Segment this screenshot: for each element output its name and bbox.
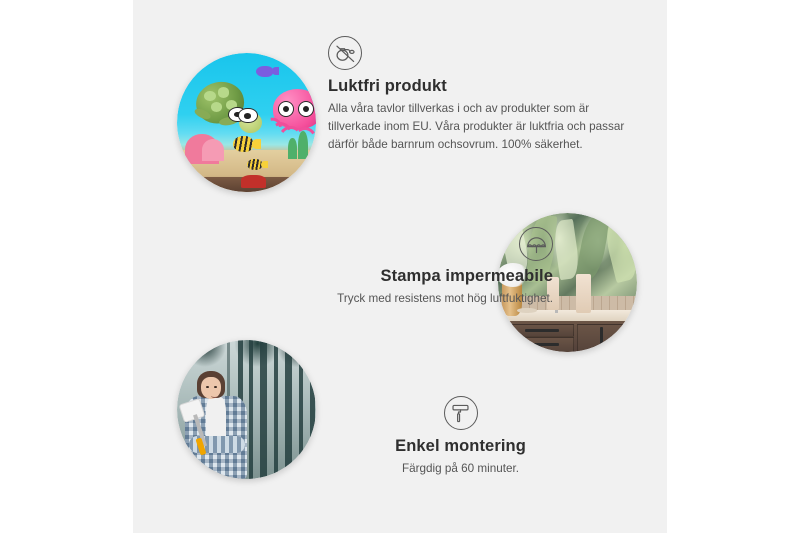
feature-assembly: Enkel montering Färgdig på 60 minuter. <box>318 396 603 478</box>
feature-body: Alla våra tavlor tillverkas i och av pro… <box>328 100 628 154</box>
purple-fish <box>256 66 273 77</box>
fish-tail <box>261 161 268 168</box>
rolled-towel <box>576 274 591 313</box>
octopus-eye-right <box>298 101 314 117</box>
octopus-eye-left <box>278 101 294 117</box>
soap-dish <box>517 308 536 314</box>
turtle-shell-spot <box>218 87 229 97</box>
feature-waterproof: Stampa impermeabile Tryck med resistens … <box>218 227 553 308</box>
yellow-striped-fish-small <box>247 159 262 170</box>
photo-inner <box>177 340 316 479</box>
drawer-handle <box>525 343 559 346</box>
umbrella-icon <box>519 227 553 261</box>
product-feature-panel: Luktfri produkt Alla våra tavlor tillver… <box>133 0 667 533</box>
feature-body: Tryck med resistens mot hög luftfuktighe… <box>218 290 553 308</box>
wallpaper-leaf <box>576 213 611 282</box>
eye-left <box>206 386 209 388</box>
turtle-eye-right <box>238 108 257 124</box>
cabinet-door <box>577 324 634 352</box>
wallpaper-leaf <box>602 216 637 283</box>
feature-body: Färgdig på 60 minuter. <box>318 460 603 478</box>
smile <box>211 393 218 397</box>
drawer-handle <box>525 329 559 332</box>
vanity-cabinet <box>506 321 637 352</box>
feature-odourless: Luktfri produkt Alla våra tavlor tillver… <box>328 36 628 153</box>
woman-illustration <box>183 371 261 479</box>
no-fragrance-spray-bottle-icon <box>328 36 362 70</box>
sea-turtle-illustration <box>192 82 259 135</box>
screenshot-root: Luktfri produkt Alla våra tavlor tillver… <box>0 0 800 533</box>
yellow-striped-fish <box>233 136 254 151</box>
tree-trunk <box>260 340 266 479</box>
photo-inner <box>177 53 316 192</box>
underwater-kids-scene-photo <box>177 53 316 192</box>
pink-coral <box>202 139 224 161</box>
door-handle <box>600 327 603 344</box>
feature-title: Luktfri produkt <box>328 77 628 97</box>
feature-title: Enkel montering <box>318 437 603 457</box>
turtle-shell-spot <box>204 91 215 101</box>
feature-title: Stampa impermeabile <box>218 267 553 287</box>
fish-tail <box>252 139 262 149</box>
eye-right <box>214 386 217 388</box>
tree-trunk <box>310 340 314 479</box>
tree-trunk <box>285 340 292 479</box>
tree-trunk <box>274 340 278 479</box>
fish-tail <box>272 67 280 74</box>
installer-forest-photo <box>177 340 316 479</box>
sea-weed <box>288 138 296 159</box>
paint-roller-icon <box>444 396 478 430</box>
sea-weed <box>298 131 308 159</box>
crab-illustration <box>241 175 266 188</box>
tree-trunk <box>299 340 303 479</box>
